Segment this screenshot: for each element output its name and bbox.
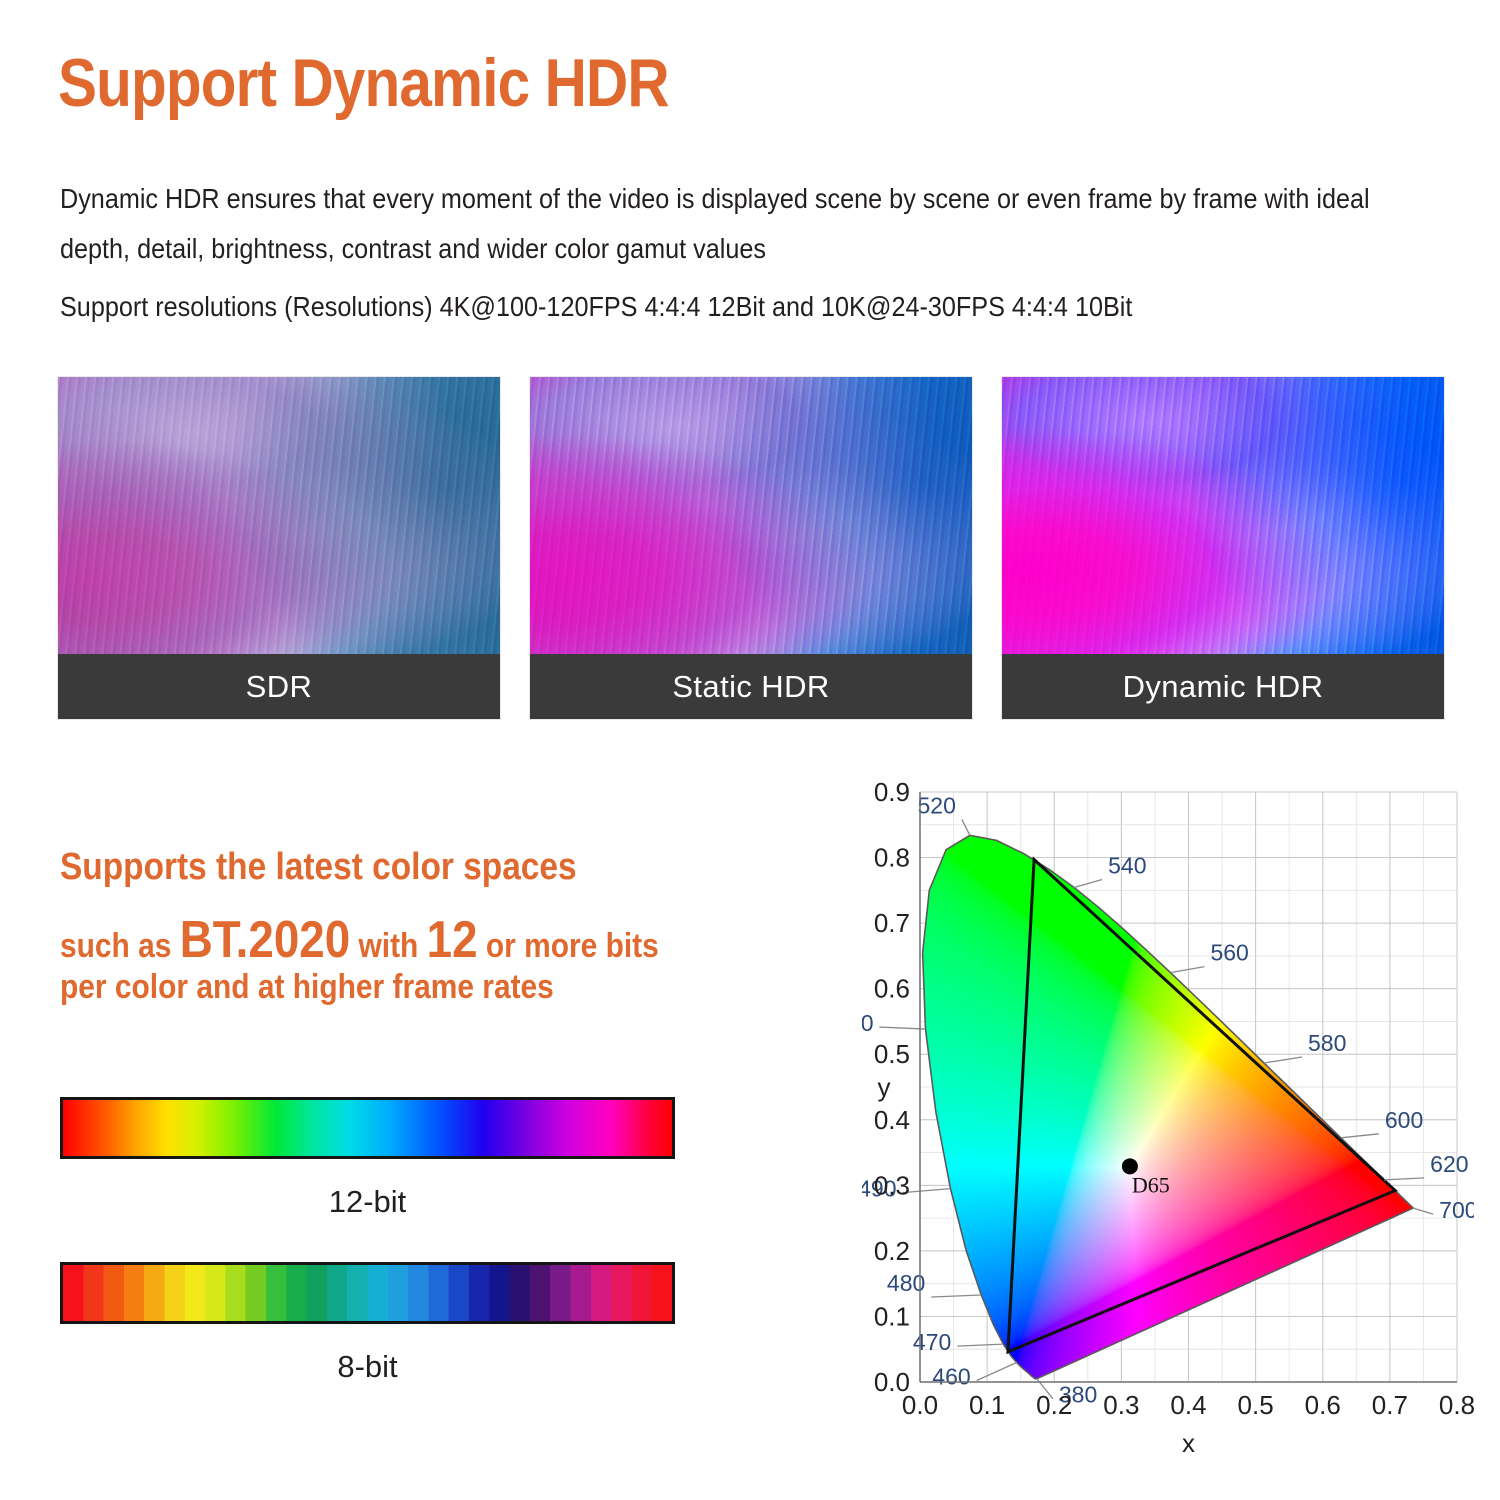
dynamic-hdr-image <box>1002 377 1444 654</box>
svg-text:0.8: 0.8 <box>874 843 910 873</box>
tagline-or-more-bits: or more bits <box>478 927 659 965</box>
svg-text:600: 600 <box>1385 1107 1423 1133</box>
intro-line-1: Dynamic HDR ensures that every moment of… <box>60 178 1370 220</box>
gradient-bar-12bit-label: 12-bit <box>60 1184 675 1220</box>
page-root: Support Dynamic HDR Dynamic HDR ensures … <box>0 0 1500 1500</box>
svg-text:700: 700 <box>1439 1197 1474 1223</box>
tagline-with: with <box>350 927 426 965</box>
svg-text:560: 560 <box>1210 940 1248 966</box>
svg-text:0.1: 0.1 <box>969 1390 1005 1420</box>
tagline-such-as: such as <box>60 927 180 965</box>
svg-text:D65: D65 <box>1132 1172 1170 1197</box>
page-title: Support Dynamic HDR <box>58 48 669 119</box>
svg-text:0.8: 0.8 <box>1439 1390 1474 1420</box>
gradient-bar-8bit-wrap <box>60 1262 675 1324</box>
svg-text:x: x <box>1182 1428 1195 1458</box>
tagline-twelve: 12 <box>427 911 478 969</box>
svg-text:0.3: 0.3 <box>874 1170 910 1200</box>
svg-text:0.2: 0.2 <box>1036 1390 1072 1420</box>
static-hdr-caption: Static HDR <box>530 654 972 719</box>
dynamic-hdr-caption: Dynamic HDR <box>1002 654 1444 719</box>
svg-text:0.9: 0.9 <box>874 782 910 807</box>
svg-text:0.3: 0.3 <box>1103 1390 1139 1420</box>
svg-text:0.0: 0.0 <box>874 1367 910 1397</box>
svg-text:0.6: 0.6 <box>874 974 910 1004</box>
gradient-bar-8bit-label: 8-bit <box>60 1349 675 1385</box>
svg-text:520: 520 <box>917 792 955 818</box>
intro-line-2: depth, detail, brightness, contrast and … <box>60 228 766 270</box>
static-hdr-image <box>530 377 972 654</box>
gradient-bar-12bit-wrap <box>60 1097 675 1159</box>
sdr-caption: SDR <box>58 654 500 719</box>
gradient-bar-8bit <box>60 1262 675 1324</box>
svg-text:0.7: 0.7 <box>1372 1390 1408 1420</box>
colorspace-tagline-line-1: Supports the latest color spaces <box>60 846 577 889</box>
colorspace-tagline-line-2: such as BT.2020 with 12 or more bits <box>60 910 659 970</box>
cie-chromaticity-chart: D653804604704804905005205405605806006207… <box>862 782 1474 1472</box>
svg-text:470: 470 <box>913 1329 951 1355</box>
svg-text:460: 460 <box>932 1364 970 1390</box>
svg-text:0.1: 0.1 <box>874 1301 910 1331</box>
svg-text:0.4: 0.4 <box>874 1105 910 1135</box>
svg-text:540: 540 <box>1108 853 1146 879</box>
gradient-bar-12bit <box>60 1097 675 1159</box>
svg-text:0.4: 0.4 <box>1170 1390 1206 1420</box>
comparison-panel-sdr: SDR <box>58 377 500 719</box>
sdr-image <box>58 377 500 654</box>
comparison-panel-dynamic-hdr: Dynamic HDR <box>1002 377 1444 719</box>
svg-text:y: y <box>878 1072 891 1102</box>
svg-text:0.2: 0.2 <box>874 1236 910 1266</box>
svg-text:0.5: 0.5 <box>874 1039 910 1069</box>
colorspace-tagline-line-3: per color and at higher frame rates <box>60 968 554 1007</box>
comparison-panel-static-hdr: Static HDR <box>530 377 972 719</box>
svg-text:500: 500 <box>862 1010 874 1036</box>
svg-text:0.6: 0.6 <box>1305 1390 1341 1420</box>
svg-text:580: 580 <box>1308 1030 1346 1056</box>
svg-text:0.5: 0.5 <box>1238 1390 1274 1420</box>
cie-chart-svg: D653804604704804905005205405605806006207… <box>862 782 1474 1472</box>
comparison-panels: SDR Static HDR Dynamic HDR <box>58 377 1448 719</box>
intro-line-3: Support resolutions (Resolutions) 4K@100… <box>60 286 1132 328</box>
tagline-bt2020: BT.2020 <box>180 911 350 969</box>
svg-text:0.7: 0.7 <box>874 908 910 938</box>
svg-text:620: 620 <box>1430 1151 1468 1177</box>
